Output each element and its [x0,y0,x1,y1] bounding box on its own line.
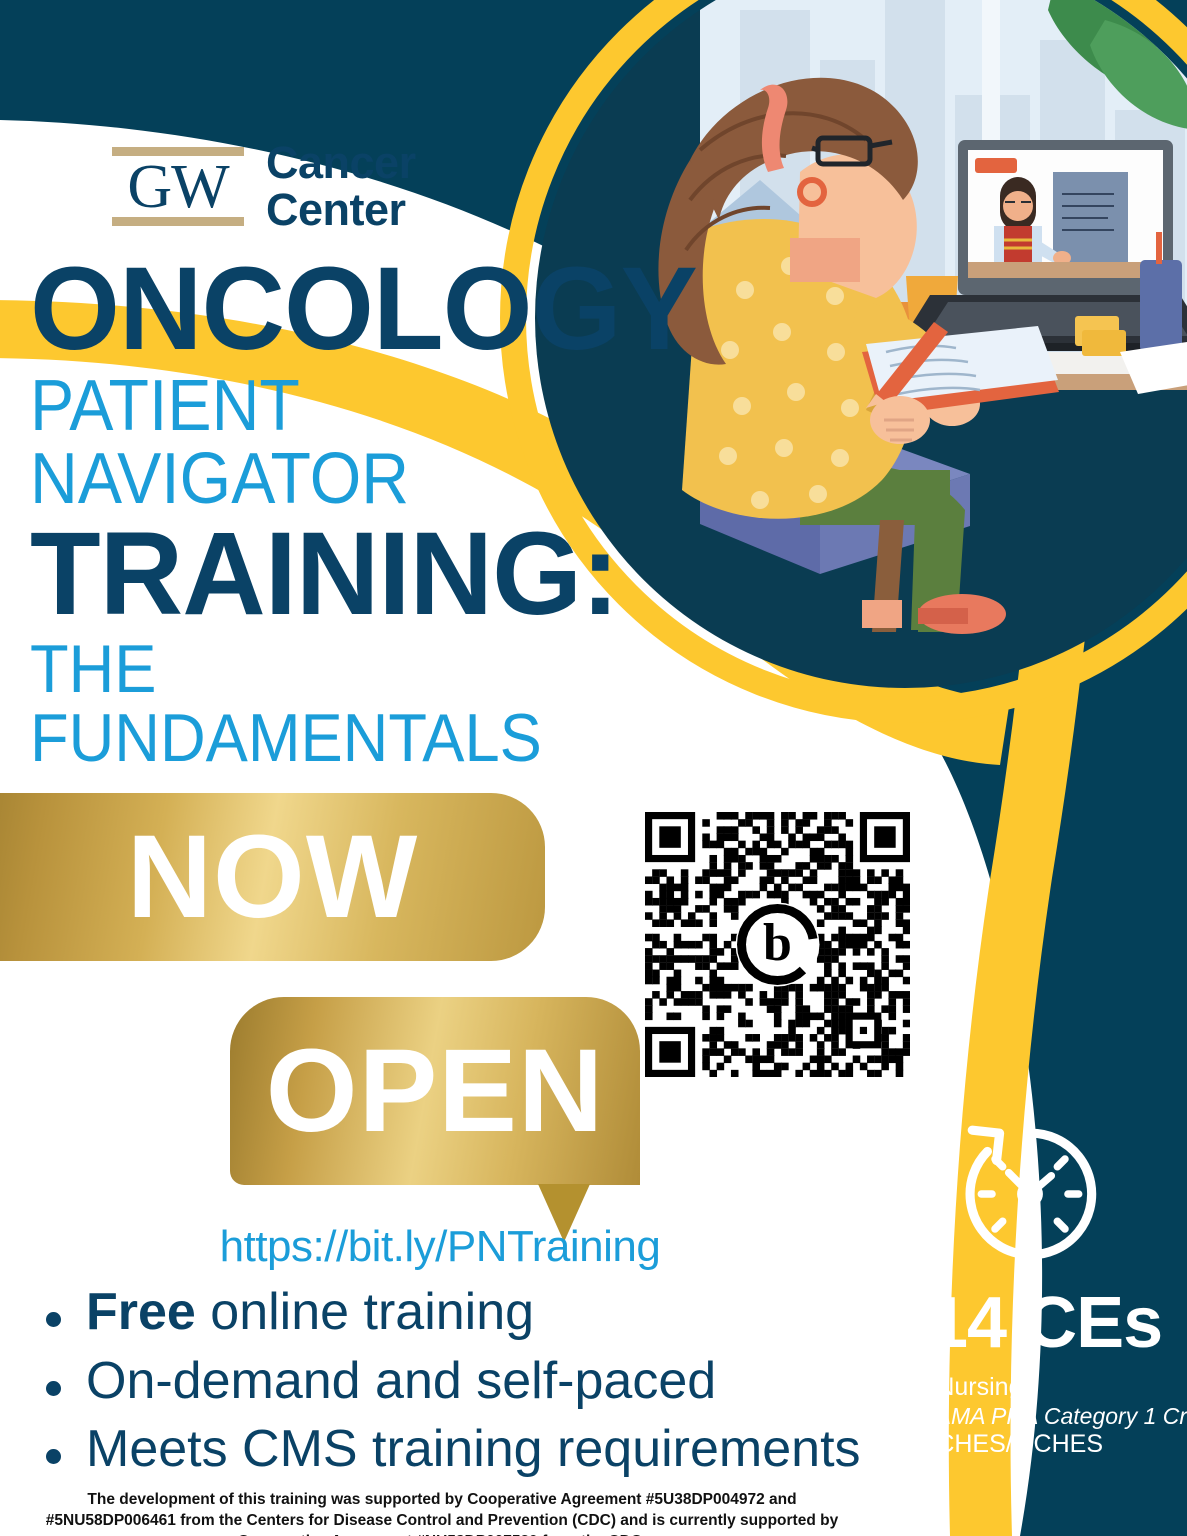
title-line-fundamentals: THE FUNDAMENTALS [30,635,607,774]
gw-monogram: GW [112,147,244,226]
footer-line-3: Cooperative Agreement #NU58DP007539 from… [24,1531,860,1536]
gw-letters: GW [112,159,244,216]
bullet-rest-1: On-demand and self-paced [86,1352,716,1410]
ce-count: 14 CEs [928,1287,1178,1359]
ce-credit-item: -Nursing [928,1373,1178,1403]
ce-credit-list: -Nursing -AMA PRA Category 1 Credit™ -CH… [928,1373,1178,1459]
qr-code-canvas[interactable] [645,812,910,1077]
gw-rule-bottom [112,217,244,226]
logo-line-center: Center [266,187,416,234]
feature-list: Free online training On-demand and self-… [30,1278,900,1484]
logo-line-cancer: Cancer [266,140,416,187]
list-item: On-demand and self-paced [30,1347,900,1416]
woman-neck [790,238,860,282]
footer-line-1: The development of this training was sup… [24,1489,860,1510]
screen-desk [968,262,1163,278]
instructor-face [1003,191,1033,221]
poster: GW Cancer Center ONCOLOGY PATIENT NAVIGA… [0,0,1187,1536]
sticky-note-2 [1082,330,1126,356]
pen-cup [1140,260,1182,352]
title-line-oncology: ONCOLOGY [30,255,638,364]
page-title: ONCOLOGY PATIENT NAVIGATOR TRAINING: THE… [30,255,650,773]
training-url[interactable]: https://bit.ly/PNTraining [0,1222,880,1272]
open-badge: OPEN [230,997,640,1185]
ce-credit-item: -CHES/MCHES [928,1430,1178,1460]
footer-line-2: #5NU58DP006461 from the Centers for Dise… [24,1510,860,1531]
title-line-patient-navigator: PATIENT NAVIGATOR [30,370,600,517]
funding-disclaimer: The development of this training was sup… [24,1489,860,1536]
gw-cancer-center-logo: GW Cancer Center [112,140,416,234]
pen [1156,232,1162,264]
bullet-strong-0: Free [86,1283,196,1341]
list-item: Free online training [30,1278,900,1347]
title-line-training: TRAINING: [30,518,638,630]
clock-with-arrow-icon [954,1118,1106,1270]
bullet-rest-2: Meets CMS training requirements [86,1420,861,1478]
bullet-rest-0: online training [196,1283,534,1341]
now-badge: NOW [0,793,545,961]
qr-code[interactable] [645,812,910,1077]
woman-foot-back [862,600,902,628]
ce-credit-item: -AMA PRA Category 1 Credit™ [928,1403,1178,1430]
screen-name-tag [975,158,1017,173]
continuing-education-panel: 14 CEs -Nursing -AMA PRA Category 1 Cred… [928,1118,1178,1459]
cancer-center-wordmark: Cancer Center [266,140,416,234]
list-item: Meets CMS training requirements [30,1415,900,1484]
